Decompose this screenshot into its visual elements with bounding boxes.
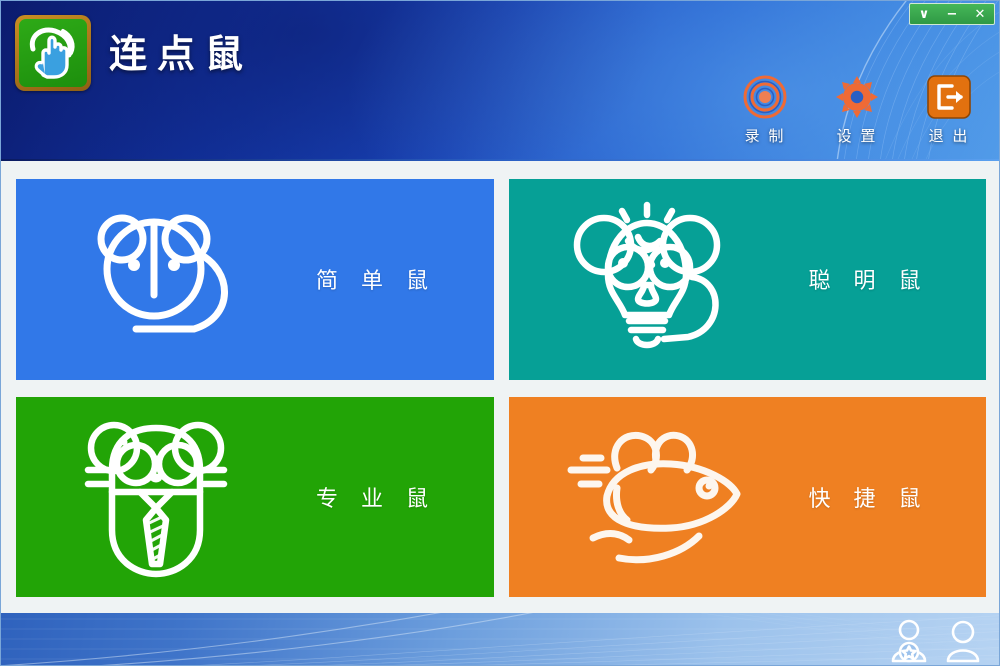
minimize-button[interactable]: − (938, 4, 966, 24)
smart-mouse-bulb-icon (509, 197, 809, 362)
simple-mouse-icon (16, 199, 316, 359)
record-target-icon (741, 73, 789, 121)
user-icon[interactable] (943, 619, 983, 663)
page-title: 连点鼠 (109, 23, 253, 78)
settings-button[interactable]: 设 置 (827, 73, 887, 146)
quick-mouse-running-icon (509, 422, 809, 572)
tile-simple-mouse-label: 简 单 鼠 (316, 263, 436, 295)
app-logo (15, 15, 91, 91)
record-button[interactable]: 录 制 (735, 73, 795, 146)
close-button[interactable]: ✕ (966, 4, 994, 24)
app-logo-inner (19, 19, 87, 87)
gear-icon (833, 73, 881, 121)
tile-quick-mouse[interactable]: 快 捷 鼠 (509, 397, 987, 598)
header-toolbar: 录 制 (735, 73, 979, 146)
exit-arrow-icon (925, 73, 973, 121)
hand-click-logo-icon (19, 19, 87, 87)
tile-smart-mouse-label: 聪 明 鼠 (809, 263, 929, 295)
tile-professional-mouse[interactable]: 专 业 鼠 (16, 397, 494, 598)
tile-simple-mouse[interactable]: 简 单 鼠 (16, 179, 494, 380)
mode-tiles-grid: 简 单 鼠 (1, 161, 1000, 613)
settings-label: 设 置 (837, 125, 878, 146)
footer-user-icons (889, 619, 983, 663)
collapse-button[interactable]: ∨ (910, 4, 938, 24)
tile-quick-mouse-label: 快 捷 鼠 (809, 481, 929, 513)
app-window: 连点鼠 ∨ − ✕ 录 制 (0, 0, 1000, 666)
exit-button[interactable]: 退 出 (919, 73, 979, 146)
app-header: 连点鼠 ∨ − ✕ 录 制 (1, 1, 1000, 161)
footer-decorative-streaks (1, 613, 1000, 666)
vip-user-star-icon[interactable] (889, 619, 929, 663)
exit-label: 退 出 (929, 125, 970, 146)
app-footer (1, 613, 1000, 666)
record-label: 录 制 (745, 125, 786, 146)
tile-professional-mouse-label: 专 业 鼠 (316, 481, 436, 513)
window-controls: ∨ − ✕ (909, 3, 995, 25)
tile-smart-mouse[interactable]: 聪 明 鼠 (509, 179, 987, 380)
professional-mouse-tie-icon (16, 412, 316, 582)
